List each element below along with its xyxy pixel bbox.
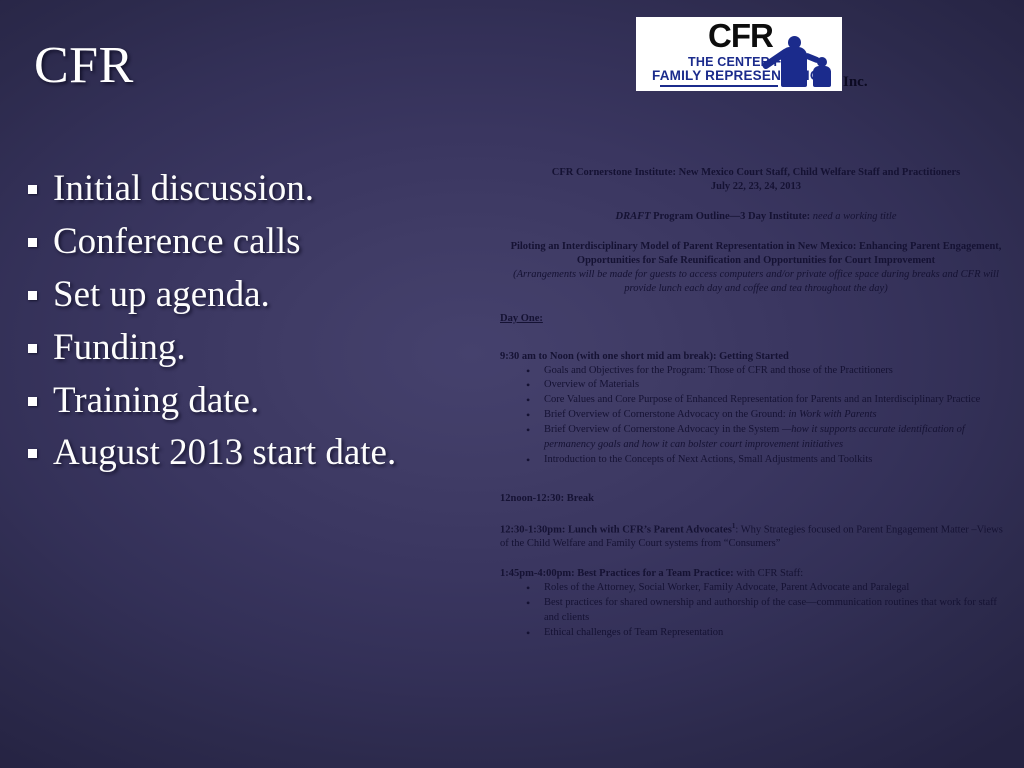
- square-bullet-icon: [28, 449, 37, 458]
- list-item: August 2013 start date.: [18, 430, 458, 476]
- square-bullet-icon: [28, 291, 37, 300]
- list-item-label: Best practices for shared ownership and …: [544, 597, 997, 623]
- spacer: [500, 224, 1012, 240]
- presentation-slide: CFR CFR THE CENTER FOR FAMILY REPRESENTA…: [0, 0, 1024, 768]
- session-item-list: Roles of the Attorney, Social Worker, Fa…: [500, 581, 1012, 641]
- list-item-label: Brief Overview of Cornerstone Advocacy o…: [544, 409, 786, 420]
- list-item: Core Values and Core Purpose of Enhanced…: [500, 393, 1012, 408]
- child-body-shape: [813, 66, 831, 87]
- list-item-label: Set up agenda.: [53, 272, 458, 318]
- draft-note: need a working title: [810, 211, 896, 222]
- session-time-heading: 12noon-12:30: Break: [500, 492, 1012, 506]
- list-item: Funding.: [18, 325, 458, 371]
- logo-underline-rule: [660, 85, 778, 87]
- list-item: Goals and Objectives for the Program: Th…: [500, 364, 1012, 379]
- square-bullet-icon: [28, 238, 37, 247]
- doc-header-line2: July 22, 23, 24, 2013: [500, 180, 1012, 194]
- list-item-label: Training date.: [53, 378, 458, 424]
- list-item-label: Ethical challenges of Team Representatio…: [544, 627, 723, 638]
- embedded-program-outline-document: CFR Cornerstone Institute: New Mexico Co…: [500, 166, 1012, 641]
- list-item-label: Overview of Materials: [544, 379, 639, 390]
- draft-label: DRAFT: [616, 211, 651, 222]
- list-item: Overview of Materials: [500, 378, 1012, 393]
- square-bullet-icon: [28, 185, 37, 194]
- list-item-label: Introduction to the Concepts of Next Act…: [544, 454, 872, 465]
- page-title: CFR: [34, 38, 134, 93]
- session-item-list: Goals and Objectives for the Program: Th…: [500, 364, 1012, 468]
- session-time-heading: 12:30-1:30pm: Lunch with CFR’s Parent Ad…: [500, 522, 1012, 551]
- doc-header-line1: CFR Cornerstone Institute: New Mexico Co…: [500, 166, 1012, 180]
- spacer: [500, 296, 1012, 312]
- logo-white-box: CFR THE CENTER FOR FAMILY REPRESENTATION: [636, 17, 842, 91]
- list-item-emphasis: in Work with Parents: [786, 409, 877, 420]
- cfr-logo: CFR THE CENTER FOR FAMILY REPRESENTATION…: [636, 17, 868, 99]
- doc-arrangements-note: (Arrangements will be made for guests to…: [500, 268, 1012, 296]
- list-item-label: Initial discussion.: [53, 166, 458, 212]
- list-item: Ethical challenges of Team Representatio…: [500, 626, 1012, 641]
- best-practices-heading: 1:45pm-4:00pm: Best Practices for a Team…: [500, 568, 734, 579]
- list-item: Conference calls: [18, 219, 458, 265]
- list-item: Brief Overview of Cornerstone Advocacy i…: [500, 423, 1012, 453]
- spacer: [500, 506, 1012, 522]
- list-item-label: Roles of the Attorney, Social Worker, Fa…: [544, 582, 909, 593]
- session-time-heading: 1:45pm-4:00pm: Best Practices for a Team…: [500, 567, 1012, 581]
- spacer: [500, 194, 1012, 210]
- best-practices-heading-rest: with CFR Staff:: [734, 568, 804, 579]
- list-item-label: Conference calls: [53, 219, 458, 265]
- list-item: Training date.: [18, 378, 458, 424]
- list-item: Best practices for shared ownership and …: [500, 596, 1012, 626]
- doc-draft-line: DRAFT Program Outline—3 Day Institute: n…: [500, 210, 1012, 224]
- spacer: [500, 468, 1012, 492]
- square-bullet-icon: [28, 344, 37, 353]
- spacer: [500, 551, 1012, 567]
- list-item: Brief Overview of Cornerstone Advocacy o…: [500, 408, 1012, 423]
- list-item: Set up agenda.: [18, 272, 458, 318]
- doc-day-label: Day One:: [500, 312, 1012, 326]
- lunch-heading: 12:30-1:30pm: Lunch with CFR’s Parent Ad…: [500, 524, 732, 535]
- slide-bullet-list: Initial discussion. Conference calls Set…: [18, 166, 458, 483]
- square-bullet-icon: [28, 397, 37, 406]
- doc-program-title: Piloting an Interdisciplinary Model of P…: [500, 240, 1012, 268]
- list-item-label: August 2013 start date.: [53, 430, 458, 476]
- list-item-label: Brief Overview of Cornerstone Advocacy i…: [544, 424, 779, 435]
- list-item-label: Core Values and Core Purpose of Enhanced…: [544, 394, 980, 405]
- logo-acronym: CFR: [708, 19, 773, 52]
- logo-inc-suffix: Inc.: [843, 74, 868, 91]
- list-item: Initial discussion.: [18, 166, 458, 212]
- list-item: Roles of the Attorney, Social Worker, Fa…: [500, 581, 1012, 596]
- session-time-heading: 9:30 am to Noon (with one short mid am b…: [500, 350, 1012, 364]
- list-item-label: Funding.: [53, 325, 458, 371]
- draft-rest: Program Outline—3 Day Institute:: [651, 211, 811, 222]
- spacer: [500, 326, 1012, 350]
- parent-child-silhouette-icon: [774, 35, 836, 89]
- list-item: Introduction to the Concepts of Next Act…: [500, 453, 1012, 468]
- list-item-label: Goals and Objectives for the Program: Th…: [544, 365, 893, 376]
